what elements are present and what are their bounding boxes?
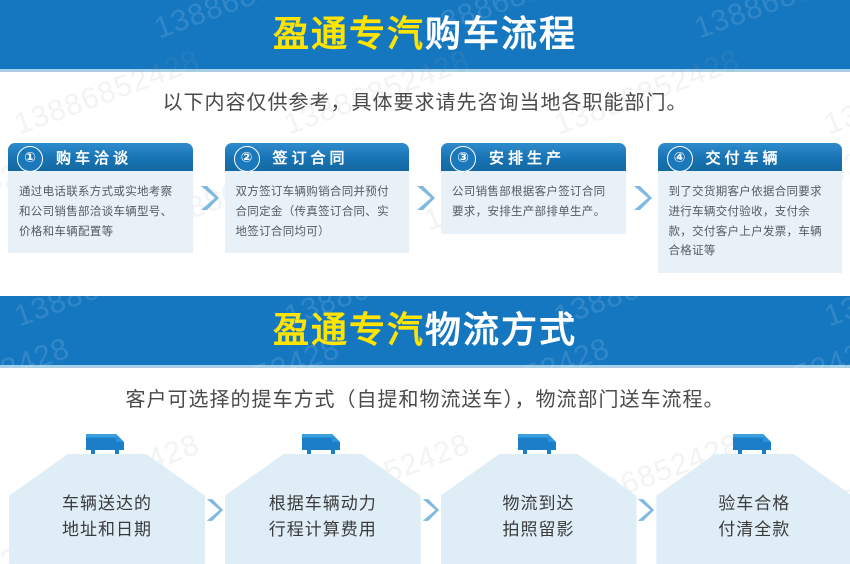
logistics-cards-row: 车辆送达的 地址和日期 根据车辆动力 行程计算费用 xyxy=(0,430,850,564)
logistics-banner: 盈通专汽物流方式 xyxy=(0,296,850,368)
step-number-1: ① xyxy=(17,146,43,172)
logistics-card-line1-2: 根据车辆动力 xyxy=(269,491,377,517)
step-number-4: ④ xyxy=(667,146,693,172)
chevron-right-icon-5 xyxy=(419,430,441,564)
logistics-card-text-1: 车辆送达的 地址和日期 xyxy=(62,475,152,544)
step-body-1: 通过电话联系方式或实地考察和公司销售部洽谈车辆型号、价格和车辆配置等 xyxy=(8,171,193,253)
step-card-1: ① 购车洽谈 通过电话联系方式或实地考察和公司销售部洽谈车辆型号、价格和车辆配置… xyxy=(8,143,193,253)
brand-name: 盈通专汽 xyxy=(273,14,425,55)
step-title-4: 交付车辆 xyxy=(706,147,782,168)
chevron-right-icon-2 xyxy=(409,143,441,253)
logistics-card-line2-3: 拍照留影 xyxy=(503,517,575,543)
step-header-1: ① 购车洽谈 xyxy=(8,143,193,171)
logistics-card-text-2: 根据车辆动力 行程计算费用 xyxy=(269,475,377,544)
truck-icon-2 xyxy=(225,432,421,456)
logistics-card-shape-1: 车辆送达的 地址和日期 xyxy=(9,454,205,564)
step-body-3: 公司销售部根据客户签订合同要求，安排生产部排单生产。 xyxy=(441,171,626,234)
logistics-card-shape-2: 根据车辆动力 行程计算费用 xyxy=(225,454,421,564)
logistics-card-4: 验车合格 付清全款 xyxy=(656,430,850,564)
logistics-card-line1-4: 验车合格 xyxy=(718,491,790,517)
step-title-2: 签订合同 xyxy=(273,147,349,168)
chevron-right-icon-6 xyxy=(634,430,656,564)
step-card-2: ② 签订合同 双方签订车辆购销合同并预付合同定金（传真签订合同、实地签订合同均可… xyxy=(225,143,410,253)
chevron-right-icon-1 xyxy=(193,143,225,253)
logistics-card-1: 车辆送达的 地址和日期 xyxy=(9,430,203,564)
logistics-card-line1-3: 物流到达 xyxy=(503,491,575,517)
step-card-4: ④ 交付车辆 到了交货期客户依据合同要求进行车辆交付验收，支付余款，交付客户上户… xyxy=(658,143,843,273)
purchase-banner-title: 盈通专汽购车流程 xyxy=(0,0,850,69)
logistics-card-shape-4: 验车合格 付清全款 xyxy=(656,454,850,564)
banner-subject-2: 物流方式 xyxy=(425,310,577,351)
step-header-3: ③ 安排生产 xyxy=(441,143,626,171)
chevron-right-icon-3 xyxy=(626,143,658,253)
logistics-card-line2-1: 地址和日期 xyxy=(62,517,152,543)
logistics-banner-title: 盈通专汽物流方式 xyxy=(0,296,850,365)
logistics-card-shape-3: 物流到达 拍照留影 xyxy=(441,454,637,564)
step-body-2: 双方签订车辆购销合同并预付合同定金（传真签订合同、实地签订合同均可） xyxy=(225,171,410,253)
logistics-card-line1-1: 车辆送达的 xyxy=(62,491,152,517)
logistics-card-text-4: 验车合格 付清全款 xyxy=(718,475,790,544)
brand-name-2: 盈通专汽 xyxy=(273,310,425,351)
logistics-card-line2-2: 行程计算费用 xyxy=(269,517,377,543)
logistics-card-text-3: 物流到达 拍照留影 xyxy=(503,475,575,544)
logistics-card-2: 根据车辆动力 行程计算费用 xyxy=(225,430,419,564)
logistics-card-3: 物流到达 拍照留影 xyxy=(441,430,635,564)
step-number-3: ③ xyxy=(450,146,476,172)
step-title-1: 购车洽谈 xyxy=(56,147,132,168)
banner-subject: 购车流程 xyxy=(425,14,577,55)
chevron-right-icon-4 xyxy=(203,430,225,564)
step-body-4: 到了交货期客户依据合同要求进行车辆交付验收，支付余款，交付客户上户发票，车辆合格… xyxy=(658,171,843,273)
truck-icon-1 xyxy=(9,432,205,456)
purchase-banner: 盈通专汽购车流程 xyxy=(0,0,850,72)
step-title-3: 安排生产 xyxy=(489,147,565,168)
step-card-3: ③ 安排生产 公司销售部根据客户签订合同要求，安排生产部排单生产。 xyxy=(441,143,626,234)
purchase-subtitle: 以下内容仅供参考，具体要求请先咨询当地各职能部门。 xyxy=(0,86,850,115)
truck-icon-3 xyxy=(441,432,637,456)
logistics-subtitle: 客户可选择的提车方式（自提和物流送车），物流部门送车流程。 xyxy=(0,383,850,412)
step-header-4: ④ 交付车辆 xyxy=(658,143,843,171)
purchase-steps-row: ① 购车洽谈 通过电话联系方式或实地考察和公司销售部洽谈车辆型号、价格和车辆配置… xyxy=(8,143,842,253)
step-number-2: ② xyxy=(234,146,260,172)
logistics-card-line2-4: 付清全款 xyxy=(718,517,790,543)
truck-icon-4 xyxy=(656,432,850,456)
step-header-2: ② 签订合同 xyxy=(225,143,410,171)
